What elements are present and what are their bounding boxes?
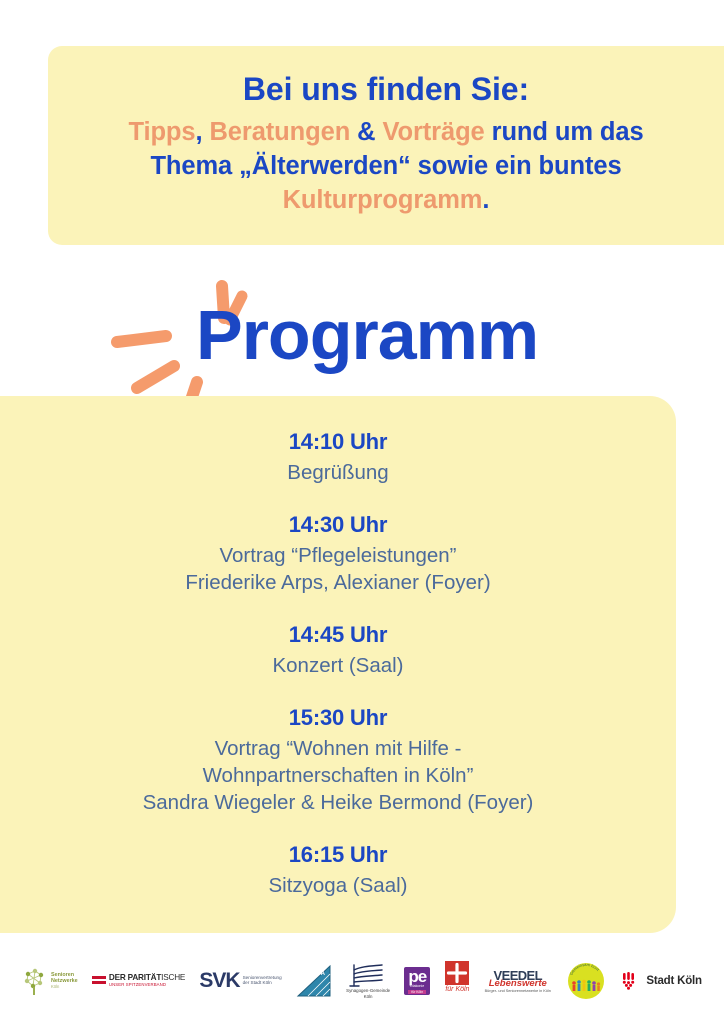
network-nodes-icon	[22, 966, 48, 996]
logo-line: pe	[408, 969, 426, 984]
logo-caritas: für Köln	[444, 960, 470, 1002]
logo-line: für Köln	[408, 990, 426, 994]
logo-line: der Stadt Köln	[243, 981, 282, 986]
banner-punct-2: &	[350, 118, 382, 146]
stadt-koeln-crest-icon	[621, 970, 643, 992]
logo-diakonie-pe-mark: pe Diakonie für Köln	[404, 967, 430, 995]
logo-buntes-netzwerk: Gemeinsam bunt	[565, 960, 607, 1002]
diva-triangle-icon: DiVA	[296, 964, 332, 998]
banner-line-3: Thema „Älterwerden“ sowie ein buntes	[150, 149, 621, 183]
logo-synagogen-gemeinde: Synagogen-Gemeinde Köln	[346, 960, 390, 1002]
banner-word-tipps: Tipps	[128, 118, 195, 146]
logo-der-paritaetische: DER PARITÄTISCHE UNSER SPITZENVERBAND	[92, 960, 185, 1002]
banner-word-beratungen: Beratungen	[209, 118, 350, 146]
slot-time: 14:45 Uhr	[272, 620, 403, 650]
logo-line: Lebenswerte	[489, 979, 547, 989]
banner-punct-3: .	[482, 186, 489, 214]
slot-desc-line: Begrüßung	[287, 459, 388, 486]
logo-senioren-netzwerke: Senioren Netzwerke Köln	[22, 960, 78, 1002]
programme-list: 14:10 Uhr Begrüßung 14:30 Uhr Vortrag “P…	[0, 396, 676, 933]
programme-slot: 14:45 Uhr Konzert (Saal)	[272, 620, 403, 679]
banner-word-kulturprogramm: Kulturprogramm	[283, 186, 483, 214]
slot-time: 14:10 Uhr	[287, 427, 388, 457]
slot-time: 14:30 Uhr	[185, 510, 490, 540]
slot-time: 15:30 Uhr	[143, 703, 534, 733]
people-circle-icon: Gemeinsam bunt	[565, 960, 607, 1002]
logo-veedel-text: VEEDEL Lebenswerte Bürger- und Seniorenn…	[485, 969, 551, 994]
slot-time: 16:15 Uhr	[268, 840, 407, 870]
slot-desc-line: Wohnpartnerschaften in Köln”	[143, 762, 534, 789]
slot-desc-line: Sandra Wiegeler & Heike Bermond (Foyer)	[143, 789, 534, 816]
slot-desc-line: Konzert (Saal)	[272, 652, 403, 679]
logo-line: für Köln	[445, 986, 469, 993]
logo-line: SVK	[199, 969, 239, 993]
slot-desc-line: Vortrag “Pflegeleistungen”	[185, 542, 490, 569]
banner-tail-2: rund um das	[485, 118, 644, 146]
logo-senioren-netzwerke-text: Senioren Netzwerke Köln	[51, 973, 78, 989]
caritas-cross-icon	[444, 960, 470, 986]
logo-diakonie-pe: pe Diakonie für Köln	[404, 960, 430, 1002]
menorah-icon	[348, 962, 388, 988]
poster-canvas: Bei uns finden Sie: Tipps, Beratungen & …	[0, 0, 724, 1024]
slot-desc-line: Sitzyoga (Saal)	[268, 872, 407, 899]
paritaetische-bars-icon	[92, 974, 106, 988]
svg-text:DiVA: DiVA	[311, 971, 326, 977]
page-title: Programm	[196, 300, 538, 370]
logo-line: Köln	[51, 985, 78, 990]
banner-headline: Bei uns finden Sie:	[243, 69, 529, 109]
logo-line: Bürger- und Seniorennetzwerke in Köln	[485, 989, 551, 993]
slot-desc-line: Vortrag “Wohnen mit Hilfe -	[143, 735, 534, 762]
logo-stadt-koeln: Stadt Köln	[621, 960, 702, 1002]
banner-word-vortraege: Vorträge	[382, 118, 484, 146]
programme-slot: 14:30 Uhr Vortrag “Pflegeleistungen” Fri…	[185, 510, 490, 596]
logo-der-paritaetische-text: DER PARITÄTISCHE UNSER SPITZENVERBAND	[109, 974, 185, 988]
banner-line-4: Kulturprogramm.	[283, 183, 490, 217]
logo-svk: SVK Seniorenvertretung der Stadt Köln	[199, 960, 281, 1002]
logo-veedel-lebenswerte: VEEDEL Lebenswerte Bürger- und Seniorenn…	[485, 960, 551, 1002]
slot-desc-line: Friederike Arps, Alexianer (Foyer)	[185, 569, 490, 596]
logo-line: Diakonie	[410, 984, 424, 988]
programme-slot: 15:30 Uhr Vortrag “Wohnen mit Hilfe - Wo…	[143, 703, 534, 816]
banner-text-block: Bei uns finden Sie: Tipps, Beratungen & …	[48, 46, 724, 245]
programme-slot: 16:15 Uhr Sitzyoga (Saal)	[268, 840, 407, 899]
logo-diva: DiVA	[296, 960, 332, 1002]
banner-punct-1: ,	[196, 118, 210, 146]
programme-slot: 14:10 Uhr Begrüßung	[287, 427, 388, 486]
partner-logo-strip: Senioren Netzwerke Köln DER PARITÄTISCHE…	[0, 952, 724, 1010]
logo-svk-text: Seniorenvertretung der Stadt Köln	[243, 976, 282, 986]
logo-line: Köln	[364, 995, 373, 1000]
logo-line: Stadt Köln	[646, 975, 702, 987]
banner-line-2: Tipps, Beratungen & Vorträge rund um das	[128, 115, 643, 149]
logo-synagogen-gemeinde-text: Synagogen-Gemeinde Köln	[346, 962, 390, 1000]
logo-line: UNSER SPITZENVERBAND	[109, 983, 185, 988]
